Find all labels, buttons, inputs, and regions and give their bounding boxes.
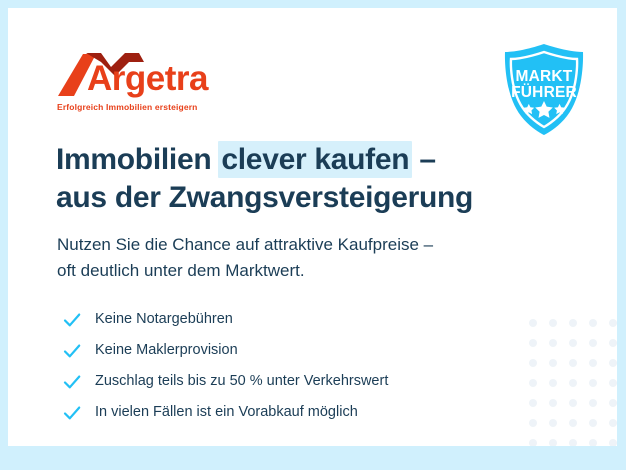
dot-grid-decoration xyxy=(523,313,617,446)
dot xyxy=(549,419,557,427)
headline-line1-after: – xyxy=(411,143,435,176)
check-icon xyxy=(61,402,83,424)
list-item: Zuschlag teils bis zu 50 % unter Verkehr… xyxy=(61,366,531,397)
dot xyxy=(569,359,577,367)
dot xyxy=(589,439,597,446)
subtitle-line-1: Nutzen Sie die Chance auf attraktive Kau… xyxy=(57,232,557,258)
dot xyxy=(569,399,577,407)
dot xyxy=(589,359,597,367)
headline-line-2: aus der Zwangsversteigerung xyxy=(56,179,556,217)
argetra-a-roof-icon: Argetra xyxy=(55,50,211,98)
list-item-label: Zuschlag teils bis zu 50 % unter Verkehr… xyxy=(95,374,388,389)
dot xyxy=(589,339,597,347)
dot xyxy=(569,319,577,327)
logo-tagline: Erfolgreich Immobilien ersteigern xyxy=(57,102,198,112)
dot xyxy=(569,339,577,347)
dot xyxy=(589,379,597,387)
list-item: Keine Maklerprovision xyxy=(61,335,531,366)
list-item-label: Keine Notargebühren xyxy=(95,312,233,327)
check-icon xyxy=(61,309,83,331)
dot xyxy=(549,319,557,327)
badge-line2: FÜHRER xyxy=(511,84,577,101)
list-item-label: Keine Maklerprovision xyxy=(95,343,238,358)
dot xyxy=(609,419,617,427)
dot xyxy=(589,419,597,427)
list-item: Keine Notargebühren xyxy=(61,304,531,335)
dot xyxy=(529,439,537,446)
dot xyxy=(589,319,597,327)
banner-canvas: Argetra Erfolgreich Immobilien ersteiger… xyxy=(8,8,617,446)
markt-fuehrer-badge: MARKT FÜHRER xyxy=(497,41,591,138)
benefit-list: Keine Notargebühren Keine Maklerprovisio… xyxy=(61,304,531,428)
subtitle-line-2: oft deutlich unter dem Marktwert. xyxy=(57,258,557,284)
argetra-logo: Argetra Erfolgreich Immobilien ersteiger… xyxy=(55,50,215,116)
dot xyxy=(609,439,617,446)
dot xyxy=(609,339,617,347)
dot xyxy=(549,379,557,387)
dot xyxy=(569,379,577,387)
headline-line1-before: Immobilien xyxy=(56,143,219,176)
badge-line1: MARKT xyxy=(516,68,573,85)
check-icon xyxy=(61,340,83,362)
dot xyxy=(569,419,577,427)
dot xyxy=(609,359,617,367)
headline-highlight: clever kaufen xyxy=(218,141,412,178)
dot xyxy=(549,359,557,367)
promo-banner: Argetra Erfolgreich Immobilien ersteiger… xyxy=(0,0,626,470)
dot xyxy=(609,379,617,387)
dot xyxy=(549,399,557,407)
dot xyxy=(589,399,597,407)
dot xyxy=(609,319,617,327)
list-item: In vielen Fällen ist ein Vorabkauf mögli… xyxy=(61,397,531,428)
list-item-label: In vielen Fällen ist ein Vorabkauf mögli… xyxy=(95,405,358,420)
page-title: Immobilien clever kaufen – aus der Zwang… xyxy=(56,141,556,218)
check-icon xyxy=(61,371,83,393)
svg-text:Argetra: Argetra xyxy=(87,59,209,98)
dot xyxy=(549,339,557,347)
headline-line-1: Immobilien clever kaufen – xyxy=(56,141,556,179)
dot xyxy=(609,399,617,407)
dot xyxy=(549,439,557,446)
page-subtitle: Nutzen Sie die Chance auf attraktive Kau… xyxy=(57,232,557,284)
dot xyxy=(569,439,577,446)
